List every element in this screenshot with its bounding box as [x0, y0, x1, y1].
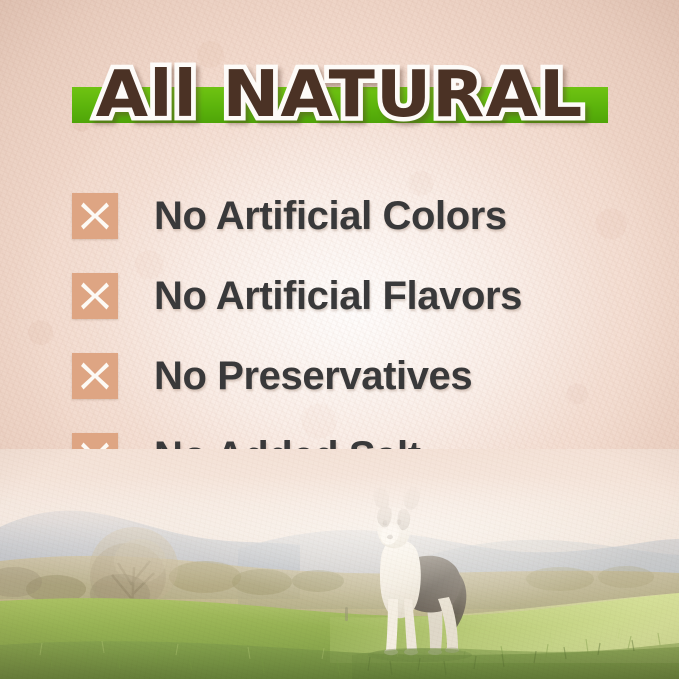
list-item: No Artificial Flavors: [72, 256, 632, 336]
dog-photo: [0, 449, 679, 679]
list-item: No Preservatives: [72, 336, 632, 416]
x-mark-icon: [72, 353, 118, 399]
feature-label: No Artificial Colors: [154, 193, 507, 239]
x-mark-icon: [72, 193, 118, 239]
headline-banner: All NATURAL: [0, 48, 679, 144]
all-natural-poster: All NATURAL No Artificial Colors No Arti…: [0, 0, 679, 679]
feature-list: No Artificial Colors No Artificial Flavo…: [72, 176, 632, 496]
page-title: All NATURAL: [0, 48, 679, 142]
feature-label: No Artificial Flavors: [154, 273, 522, 319]
x-mark-icon: [72, 273, 118, 319]
list-item: No Artificial Colors: [72, 176, 632, 256]
feature-label: No Preservatives: [154, 353, 472, 399]
